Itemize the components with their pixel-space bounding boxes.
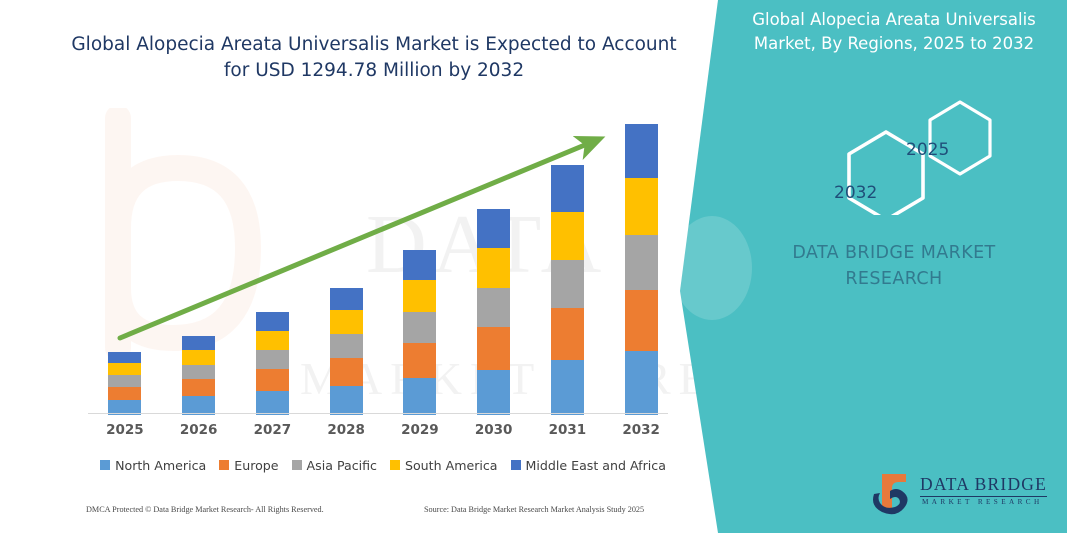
legend-label: Europe xyxy=(234,458,278,473)
chart-bar-segment xyxy=(551,212,584,260)
legend-label: Asia Pacific xyxy=(307,458,377,473)
legend-item[interactable]: Middle East and Africa xyxy=(511,458,666,473)
chart-bar-segment xyxy=(403,343,436,378)
footer-source: Source: Data Bridge Market Research Mark… xyxy=(424,505,644,514)
x-axis-tick-label: 2026 xyxy=(169,422,229,438)
infographic-canvas: DATA BRIDGE MARKET RESEARCH Global Alope… xyxy=(0,0,1067,533)
chart-bar-segment xyxy=(256,391,289,415)
footer: DMCA Protected © Data Bridge Market Rese… xyxy=(0,505,690,525)
chart-bar-segment xyxy=(256,331,289,350)
legend-swatch-icon xyxy=(219,460,229,470)
chart-bar-segment xyxy=(477,248,510,288)
legend-swatch-icon xyxy=(511,460,521,470)
hexagon-2025-shape xyxy=(930,102,990,174)
x-axis-tick-label: 2031 xyxy=(537,422,597,438)
chart-bar xyxy=(256,312,289,415)
chart-bar xyxy=(477,209,510,415)
legend-label: Middle East and Africa xyxy=(526,458,666,473)
chart-bar-segment xyxy=(477,327,510,370)
chart-title-line-1: Global Alopecia Areata Universalis Marke… xyxy=(64,32,684,58)
chart-bar-segment xyxy=(625,290,658,351)
chart-bar xyxy=(182,336,215,415)
x-axis-tick-label: 2029 xyxy=(390,422,450,438)
logo-mark-icon xyxy=(868,472,918,518)
chart-bar-segment xyxy=(551,165,584,212)
x-axis-tick-label: 2025 xyxy=(95,422,155,438)
chart-title-line-2: for USD 1294.78 Million by 2032 xyxy=(64,58,684,84)
chart-bar-segment xyxy=(477,288,510,327)
chart-bar-segment xyxy=(108,375,141,387)
chart-bar-segment xyxy=(477,370,510,415)
panel-brand-line-2: RESEARCH xyxy=(742,266,1046,292)
chart-bar xyxy=(108,352,141,415)
company-logo: DATA BRIDGE MARKET RESEARCH xyxy=(868,470,1053,518)
logo-subtitle: MARKET RESEARCH xyxy=(922,498,1043,506)
chart-bar-segment xyxy=(182,379,215,396)
panel-content: Global Alopecia Areata Universalis Marke… xyxy=(718,0,1067,533)
chart-title: Global Alopecia Areata Universalis Marke… xyxy=(64,32,684,84)
chart-bar-segment xyxy=(625,235,658,290)
chart-bar-segment xyxy=(108,352,141,364)
chart-legend: North AmericaEuropeAsia PacificSouth Ame… xyxy=(88,455,678,475)
hexagon-2025-label: 2025 xyxy=(906,140,949,160)
panel-brand-text: DATA BRIDGE MARKET RESEARCH xyxy=(742,240,1046,292)
chart-bar-segment xyxy=(625,178,658,235)
chart-bar-segment xyxy=(108,387,141,401)
chart-bar-segment xyxy=(330,288,363,310)
chart-bar-segment xyxy=(403,250,436,280)
chart-bar-segment xyxy=(625,351,658,415)
chart-bar-segment xyxy=(256,369,289,391)
hexagon-group: 2025 2032 xyxy=(778,90,1008,215)
chart-bar-segment xyxy=(256,312,289,331)
chart-baseline xyxy=(88,413,668,414)
chart-bar-segment xyxy=(330,310,363,334)
chart-bar xyxy=(551,165,584,415)
x-axis-tick-label: 2030 xyxy=(464,422,524,438)
chart-x-axis: 20252026202720282029203020312032 xyxy=(88,422,668,444)
footer-copyright: DMCA Protected © Data Bridge Market Rese… xyxy=(86,505,324,514)
chart-bar-segment xyxy=(551,260,584,307)
panel-brand-line-1: DATA BRIDGE MARKET xyxy=(742,240,1046,266)
legend-label: North America xyxy=(115,458,206,473)
legend-item[interactable]: Europe xyxy=(219,458,278,473)
legend-swatch-icon xyxy=(100,460,110,470)
x-axis-tick-label: 2027 xyxy=(242,422,302,438)
chart-bar-segment xyxy=(403,312,436,344)
chart-bar-segment xyxy=(330,386,363,415)
chart-bar xyxy=(330,288,363,415)
chart-bar-segment xyxy=(182,336,215,350)
panel-title: Global Alopecia Areata Universalis Marke… xyxy=(732,8,1056,56)
chart-bar-segment xyxy=(182,365,215,380)
legend-item[interactable]: South America xyxy=(390,458,498,473)
legend-label: South America xyxy=(405,458,498,473)
panel-title-line-2: Market, By Regions, 2025 to 2032 xyxy=(732,32,1056,56)
chart-bar-segment xyxy=(330,358,363,385)
legend-swatch-icon xyxy=(390,460,400,470)
chart-bar-segment xyxy=(256,350,289,369)
chart-bar-segment xyxy=(330,334,363,358)
x-axis-tick-label: 2032 xyxy=(611,422,671,438)
chart-plot-area xyxy=(88,110,678,415)
legend-swatch-icon xyxy=(292,460,302,470)
x-axis-tick-label: 2028 xyxy=(316,422,376,438)
chart-bar-segment xyxy=(551,308,584,361)
chart-bar-segment xyxy=(403,280,436,312)
chart-bar-segment xyxy=(625,124,658,179)
chart-bar-segment xyxy=(182,350,215,365)
chart-bar-segment xyxy=(477,209,510,248)
chart-bar-segment xyxy=(551,360,584,415)
legend-item[interactable]: Asia Pacific xyxy=(292,458,377,473)
panel-title-line-1: Global Alopecia Areata Universalis xyxy=(732,8,1056,32)
chart-bar-segment xyxy=(403,378,436,415)
chart-bar xyxy=(625,124,658,415)
chart-bar-segment xyxy=(108,363,141,375)
legend-item[interactable]: North America xyxy=(100,458,206,473)
hexagon-2032-label: 2032 xyxy=(834,183,877,203)
chart-bar xyxy=(403,250,436,415)
logo-wordmark: DATA BRIDGE xyxy=(920,474,1047,497)
hexagon-outlines-icon xyxy=(778,90,1008,215)
